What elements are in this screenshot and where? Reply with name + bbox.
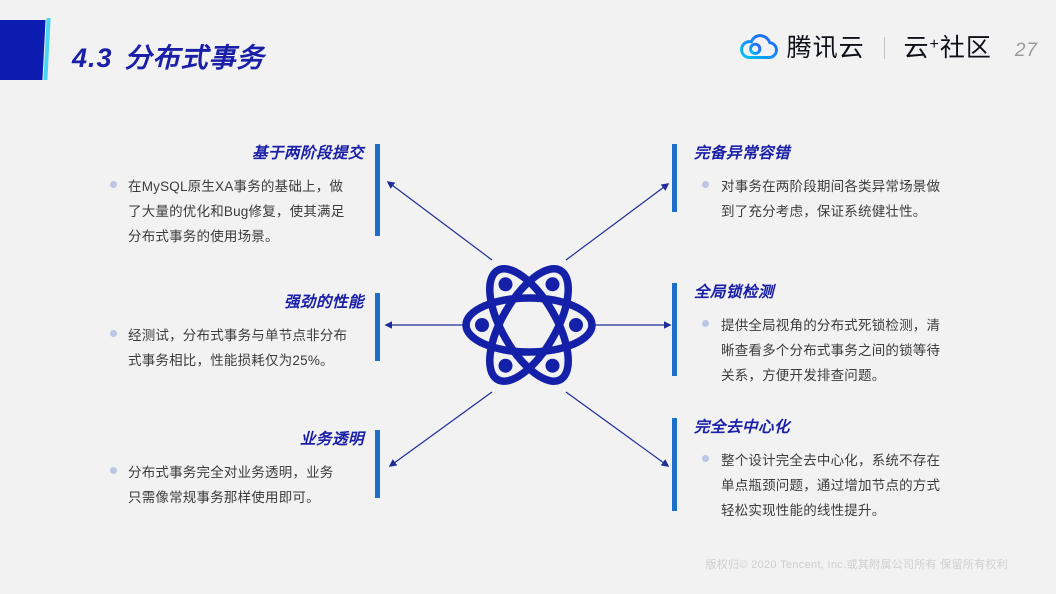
feature-line: 单点瓶颈问题，通过增加节点的方式	[721, 473, 940, 498]
feature-line: 式事务相比，性能损耗仅为25%。	[128, 348, 347, 373]
feature-line: 关系，方便开发排查问题。	[721, 363, 940, 388]
feature-description: 分布式事务完全对业务透明，业务 只需像常规事务那样使用即可。	[128, 460, 334, 510]
feature-description: 提供全局视角的分布式死锁检测，清 晰查看多个分布式事务之间的锁等待 关系，方便开…	[721, 313, 940, 388]
accent-bar	[375, 430, 380, 498]
feature-title: 业务透明	[110, 430, 380, 450]
page-number: 27	[1015, 40, 1038, 61]
feature-line: 整个设计完全去中心化，系统不存在	[721, 448, 940, 473]
logo-divider	[884, 37, 885, 59]
feature-block-two-phase-commit: 基于两阶段提交 在MySQL原生XA事务的基础上，做 了大量的优化和Bug修复，…	[110, 144, 380, 249]
accent-bar	[672, 144, 677, 212]
page-title: 4.3分布式事务	[72, 36, 265, 75]
feature-block-decentralization: 完全去中心化 整个设计完全去中心化，系统不存在 单点瓶颈问题，通过增加节点的方式…	[672, 418, 967, 523]
section-title: 分布式事务	[125, 43, 265, 73]
bullet-icon	[110, 181, 117, 188]
copyright-footer: 版权归© 2020 Tencent, Inc.或其附属公司所有 保留所有权利	[705, 556, 1008, 572]
atom-icon	[466, 257, 592, 393]
bullet-icon	[110, 467, 117, 474]
brand-logo-text: 腾讯云 云+社区 27	[787, 28, 1038, 64]
brand-name: 腾讯云	[787, 34, 865, 62]
header-accent-square	[0, 20, 46, 80]
section-number: 4.3	[72, 43, 113, 73]
feature-title: 完全去中心化	[672, 418, 967, 438]
feature-line: 了大量的优化和Bug修复，使其满足	[128, 199, 344, 224]
feature-title: 基于两阶段提交	[110, 144, 380, 164]
feature-line: 晰查看多个分布式事务之间的锁等待	[721, 338, 940, 363]
feature-description: 经测试，分布式事务与单节点非分布 式事务相比，性能损耗仅为25%。	[128, 323, 347, 373]
feature-line: 轻松实现性能的线性提升。	[721, 498, 940, 523]
accent-bar	[672, 283, 677, 376]
feature-line: 到了充分考虑，保证系统健壮性。	[721, 199, 940, 224]
feature-block-business-transparent: 业务透明 分布式事务完全对业务透明，业务 只需像常规事务那样使用即可。	[110, 430, 380, 510]
community-post: 社区	[940, 34, 992, 62]
feature-title: 完备异常容错	[672, 144, 962, 164]
bullet-icon	[702, 455, 709, 462]
feature-block-fault-tolerance: 完备异常容错 对事务在两阶段期间各类异常场景做 到了充分考虑，保证系统健壮性。	[672, 144, 962, 224]
feature-block-strong-performance: 强劲的性能 经测试，分布式事务与单节点非分布 式事务相比，性能损耗仅为25%。	[110, 293, 380, 373]
bullet-icon	[702, 181, 709, 188]
feature-line: 在MySQL原生XA事务的基础上，做	[128, 174, 344, 199]
feature-description: 对事务在两阶段期间各类异常场景做 到了充分考虑，保证系统健壮性。	[721, 174, 940, 224]
accent-bar	[375, 293, 380, 361]
bullet-icon	[702, 320, 709, 327]
feature-line: 分布式事务完全对业务透明，业务	[128, 460, 334, 485]
feature-title: 全局锁检测	[672, 283, 967, 303]
feature-line: 分布式事务的使用场景。	[128, 224, 344, 249]
connector-arrows	[386, 182, 670, 466]
accent-bar	[672, 418, 677, 511]
community-pre: 云	[904, 34, 930, 62]
bullet-icon	[110, 330, 117, 337]
feature-line: 只需像常规事务那样使用即可。	[128, 485, 334, 510]
feature-description: 在MySQL原生XA事务的基础上，做 了大量的优化和Bug修复，使其满足 分布式…	[128, 174, 344, 249]
accent-bar	[375, 144, 380, 236]
feature-line: 对事务在两阶段期间各类异常场景做	[721, 174, 940, 199]
feature-line: 提供全局视角的分布式死锁检测，清	[721, 313, 940, 338]
slide-canvas: 4.3分布式事务 腾讯云 云+社区 27	[0, 0, 1056, 594]
community-plus: +	[930, 36, 940, 53]
feature-title: 强劲的性能	[110, 293, 380, 313]
feature-block-global-lock-detection: 全局锁检测 提供全局视角的分布式死锁检测，清 晰查看多个分布式事务之间的锁等待 …	[672, 283, 967, 388]
feature-description: 整个设计完全去中心化，系统不存在 单点瓶颈问题，通过增加节点的方式 轻松实现性能…	[721, 448, 940, 523]
brand-logo: 腾讯云 云+社区 27	[740, 26, 1038, 66]
feature-line: 经测试，分布式事务与单节点非分布	[128, 323, 347, 348]
tencent-cloud-logo-icon	[740, 32, 778, 60]
